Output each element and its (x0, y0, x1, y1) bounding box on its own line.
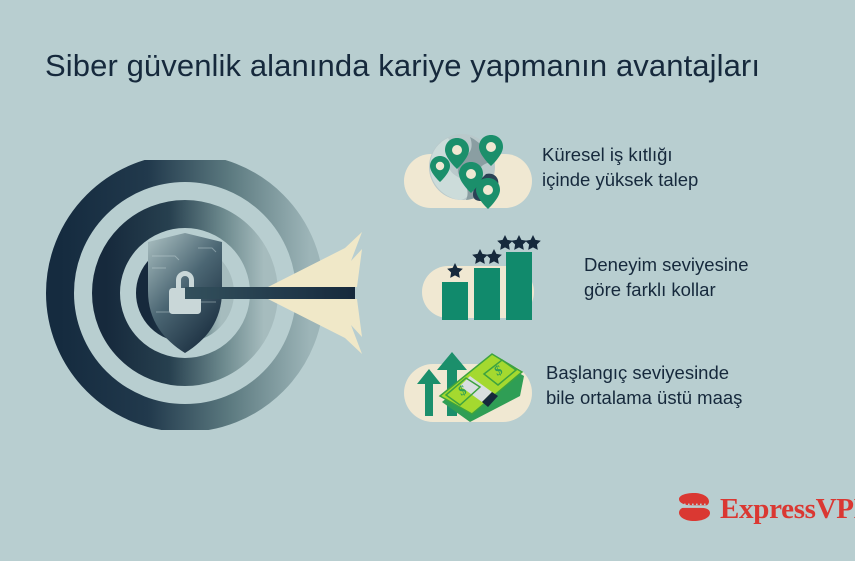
page-title: Siber güvenlik alanında kariye yapmanın … (45, 48, 835, 84)
target-with-arrow-illustration (40, 160, 410, 430)
feature-item-salary: $ $ Başlangıç seviyesinde bile ortalama … (398, 342, 742, 428)
feature-item-global-demand: Küresel iş kıtlığı içinde yüksek talep (400, 124, 698, 210)
chart-bars (442, 252, 532, 320)
infographic-canvas: Siber güvenlik alanında kariye yapmanın … (0, 0, 855, 561)
feature-item-career-tracks: Deneyim seviyesine göre farklı kollar (412, 234, 749, 320)
brand-wordmark: ExpressVPN (720, 493, 855, 526)
feature-label: Başlangıç seviyesinde bile ortalama üstü… (546, 360, 742, 410)
feature-label: Küresel iş kıtlığı içinde yüksek talep (542, 142, 698, 192)
globe-pins-icon (400, 124, 536, 210)
expressvpn-e-mark-icon (676, 489, 712, 530)
feature-label: Deneyim seviyesine göre farklı kollar (584, 252, 749, 302)
brand-logo[interactable]: ExpressVPN (676, 489, 855, 529)
arrow-shaft (185, 287, 355, 299)
bar-chart-stars-icon (412, 234, 548, 320)
cash-growth-icon: $ $ (398, 342, 534, 428)
